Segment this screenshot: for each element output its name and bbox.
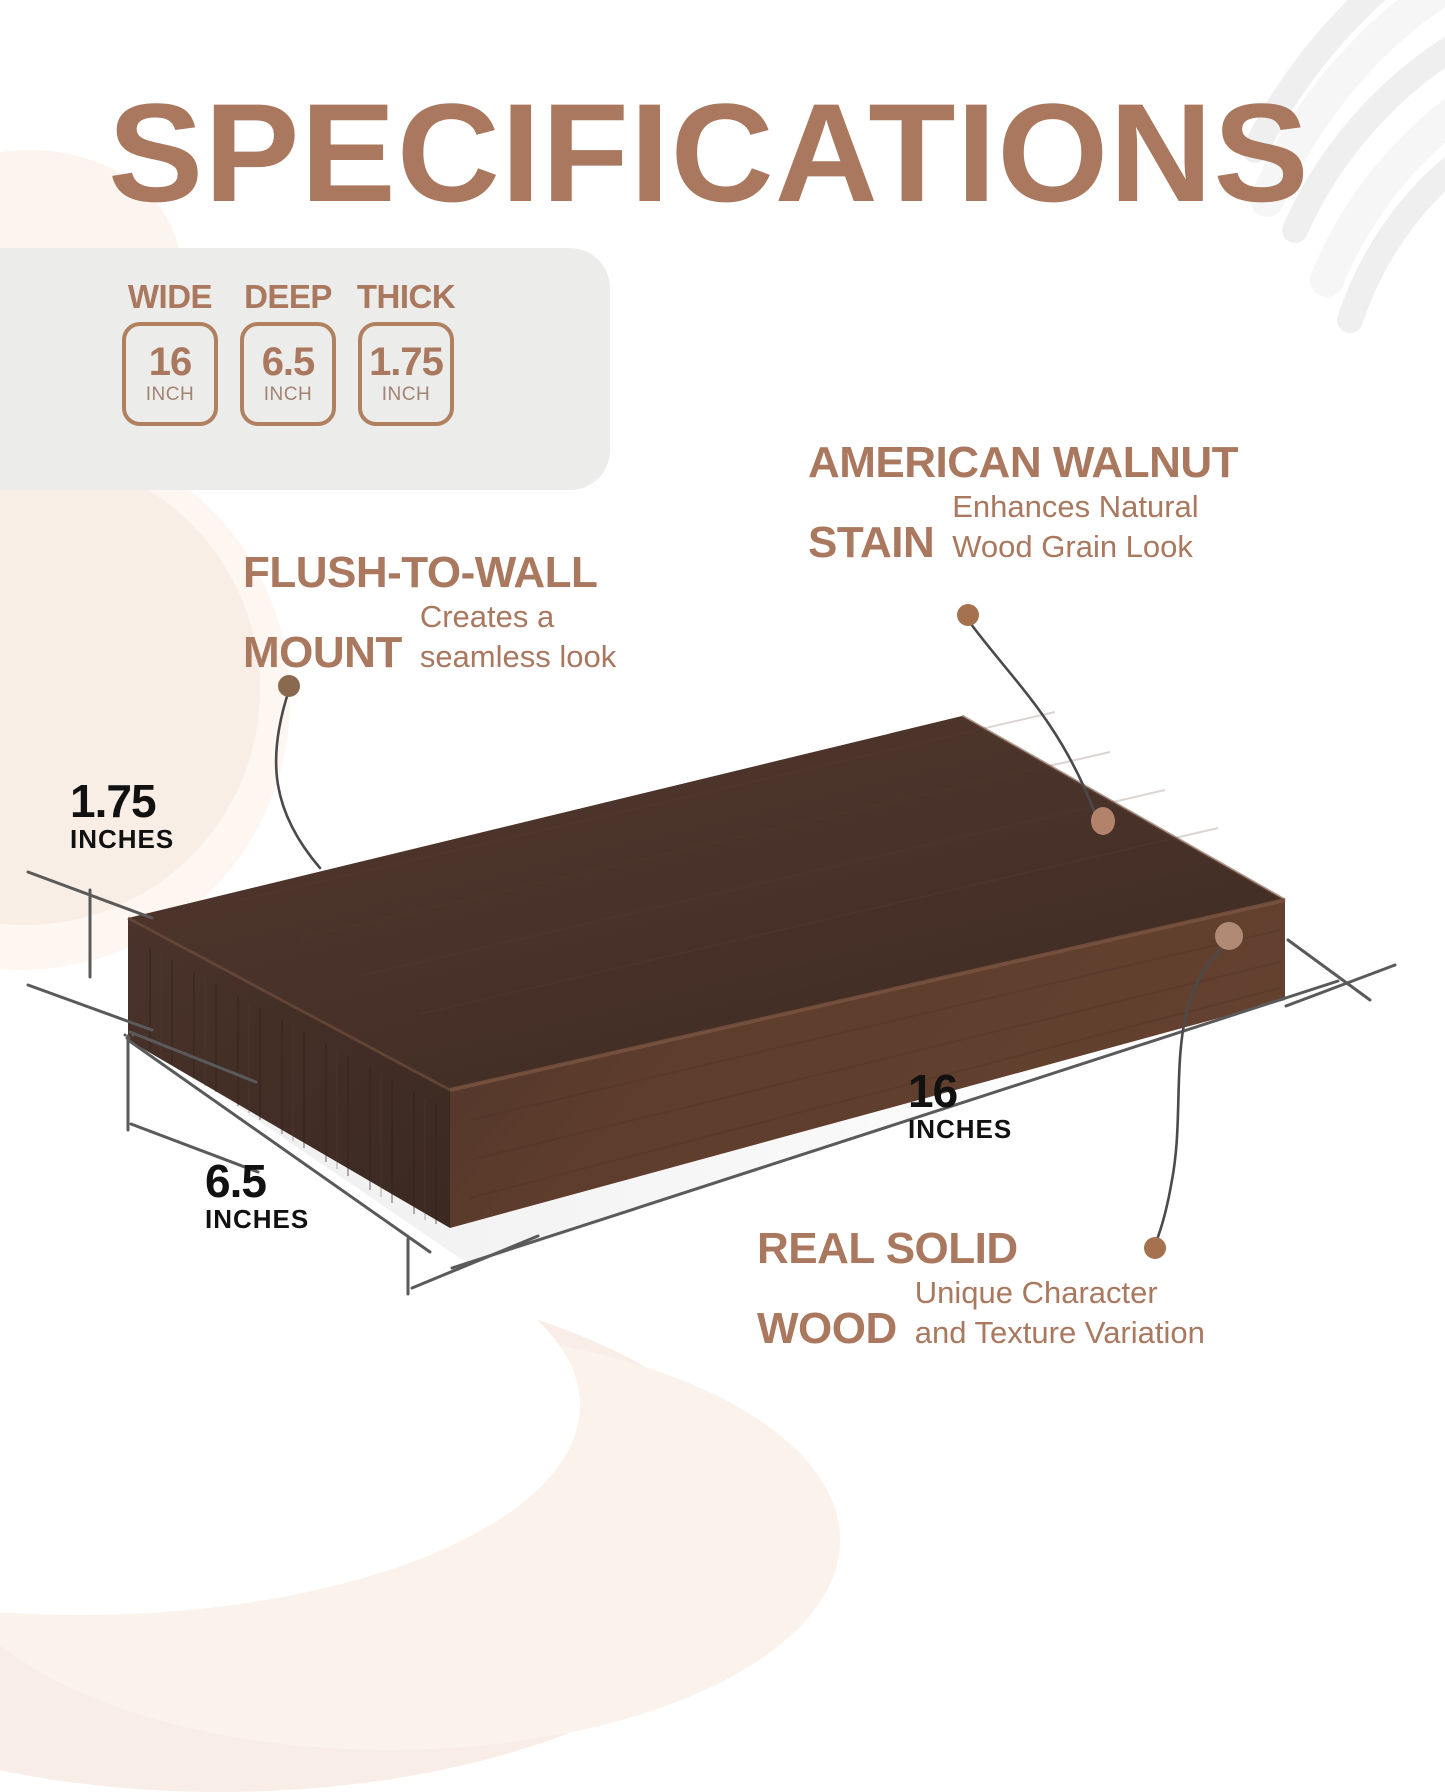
- callout-wood-sub-line1: Unique Character: [915, 1274, 1205, 1314]
- dimension-label-thickness: 1.75 INCHES: [70, 778, 174, 854]
- spec-unit-wide: INCH: [146, 384, 194, 406]
- callout-flush-sub-line2: seamless look: [420, 638, 616, 678]
- dimension-value-width: 16: [908, 1068, 1012, 1114]
- dimension-label-width: 16 INCHES: [908, 1068, 1012, 1144]
- callout-wood-title-line1: REAL SOLID: [757, 1224, 1205, 1274]
- top-grain-texture: [240, 712, 1218, 1014]
- white-mask-bottom-left: [0, 1195, 580, 1615]
- dimension-unit-thickness: INCHES: [70, 824, 174, 854]
- infographic-canvas: SPECIFICATIONS WIDE 16 INCH DEEP 6.5 INC…: [0, 0, 1445, 1445]
- beige-blob-left-outer: [0, 430, 290, 970]
- beige-blob-left-inner: [0, 455, 260, 925]
- connector-walnut-stain: [968, 620, 1096, 816]
- beige-blob-bottom: [0, 1272, 770, 1792]
- callout-dots: [278, 604, 1243, 1259]
- callout-walnut-title-line2: STAIN: [808, 518, 934, 568]
- spec-item-thick: THICK 1.75 INCH: [358, 278, 454, 426]
- callout-american-walnut-stain: AMERICAN WALNUT STAIN Enhances Natural W…: [808, 438, 1238, 568]
- dot-flush-to-wall: [278, 675, 300, 697]
- dimension-unit-depth: INCHES: [205, 1204, 309, 1234]
- spec-unit-thick: INCH: [382, 384, 430, 406]
- spec-value-box-wide: 16 INCH: [122, 322, 218, 426]
- spec-label-thick: THICK: [357, 278, 455, 316]
- dimension-value-thickness: 1.75: [70, 778, 174, 824]
- beige-blob-bottom-inner: [0, 1330, 840, 1750]
- spec-unit-deep: INCH: [264, 384, 312, 406]
- callout-flush-to-wall-mount: FLUSH-TO-WALL MOUNT Creates a seamless l…: [243, 548, 616, 678]
- spec-box-group: WIDE 16 INCH DEEP 6.5 INCH THICK 1.75 IN…: [122, 278, 454, 426]
- callout-walnut-title-line1: AMERICAN WALNUT: [808, 438, 1238, 488]
- callout-real-solid-wood: REAL SOLID WOOD Unique Character and Tex…: [757, 1224, 1205, 1354]
- spec-value-thick: 1.75: [369, 342, 443, 382]
- callout-flush-title-line2: MOUNT: [243, 628, 402, 678]
- spec-item-deep: DEEP 6.5 INCH: [240, 278, 336, 426]
- dot-walnut-stain-product: [1091, 807, 1115, 835]
- connector-flush-to-wall: [276, 690, 320, 868]
- dot-real-solid-wood-product: [1215, 922, 1243, 950]
- dot-walnut-stain-label: [957, 604, 979, 626]
- dimension-unit-width: INCHES: [908, 1114, 1012, 1144]
- spec-label-wide: WIDE: [128, 278, 212, 316]
- spec-label-deep: DEEP: [244, 278, 332, 316]
- spec-value-box-deep: 6.5 INCH: [240, 322, 336, 426]
- dimension-value-depth: 6.5: [205, 1158, 309, 1204]
- dimension-label-depth: 6.5 INCHES: [205, 1158, 309, 1234]
- connector-real-solid-wood: [1156, 943, 1228, 1242]
- spec-value-deep: 6.5: [262, 342, 315, 382]
- callout-wood-title-line2: WOOD: [757, 1304, 897, 1354]
- page-title: SPECIFICATIONS: [108, 78, 1393, 228]
- callout-wood-sub-line2: and Texture Variation: [915, 1314, 1205, 1354]
- callout-flush-title-line1: FLUSH-TO-WALL: [243, 548, 616, 598]
- spec-item-wide: WIDE 16 INCH: [122, 278, 218, 426]
- callout-walnut-sub-line1: Enhances Natural: [952, 488, 1198, 528]
- spec-value-wide: 16: [149, 342, 192, 382]
- product-shadow: [140, 985, 1285, 1265]
- callout-walnut-sub-line2: Wood Grain Look: [952, 528, 1198, 568]
- spec-value-box-thick: 1.75 INCH: [358, 322, 454, 426]
- shelf-body: [128, 712, 1285, 1228]
- front-grain-texture: [470, 930, 1280, 1198]
- callout-connectors: [276, 620, 1228, 1242]
- callout-flush-sub-line1: Creates a: [420, 598, 616, 638]
